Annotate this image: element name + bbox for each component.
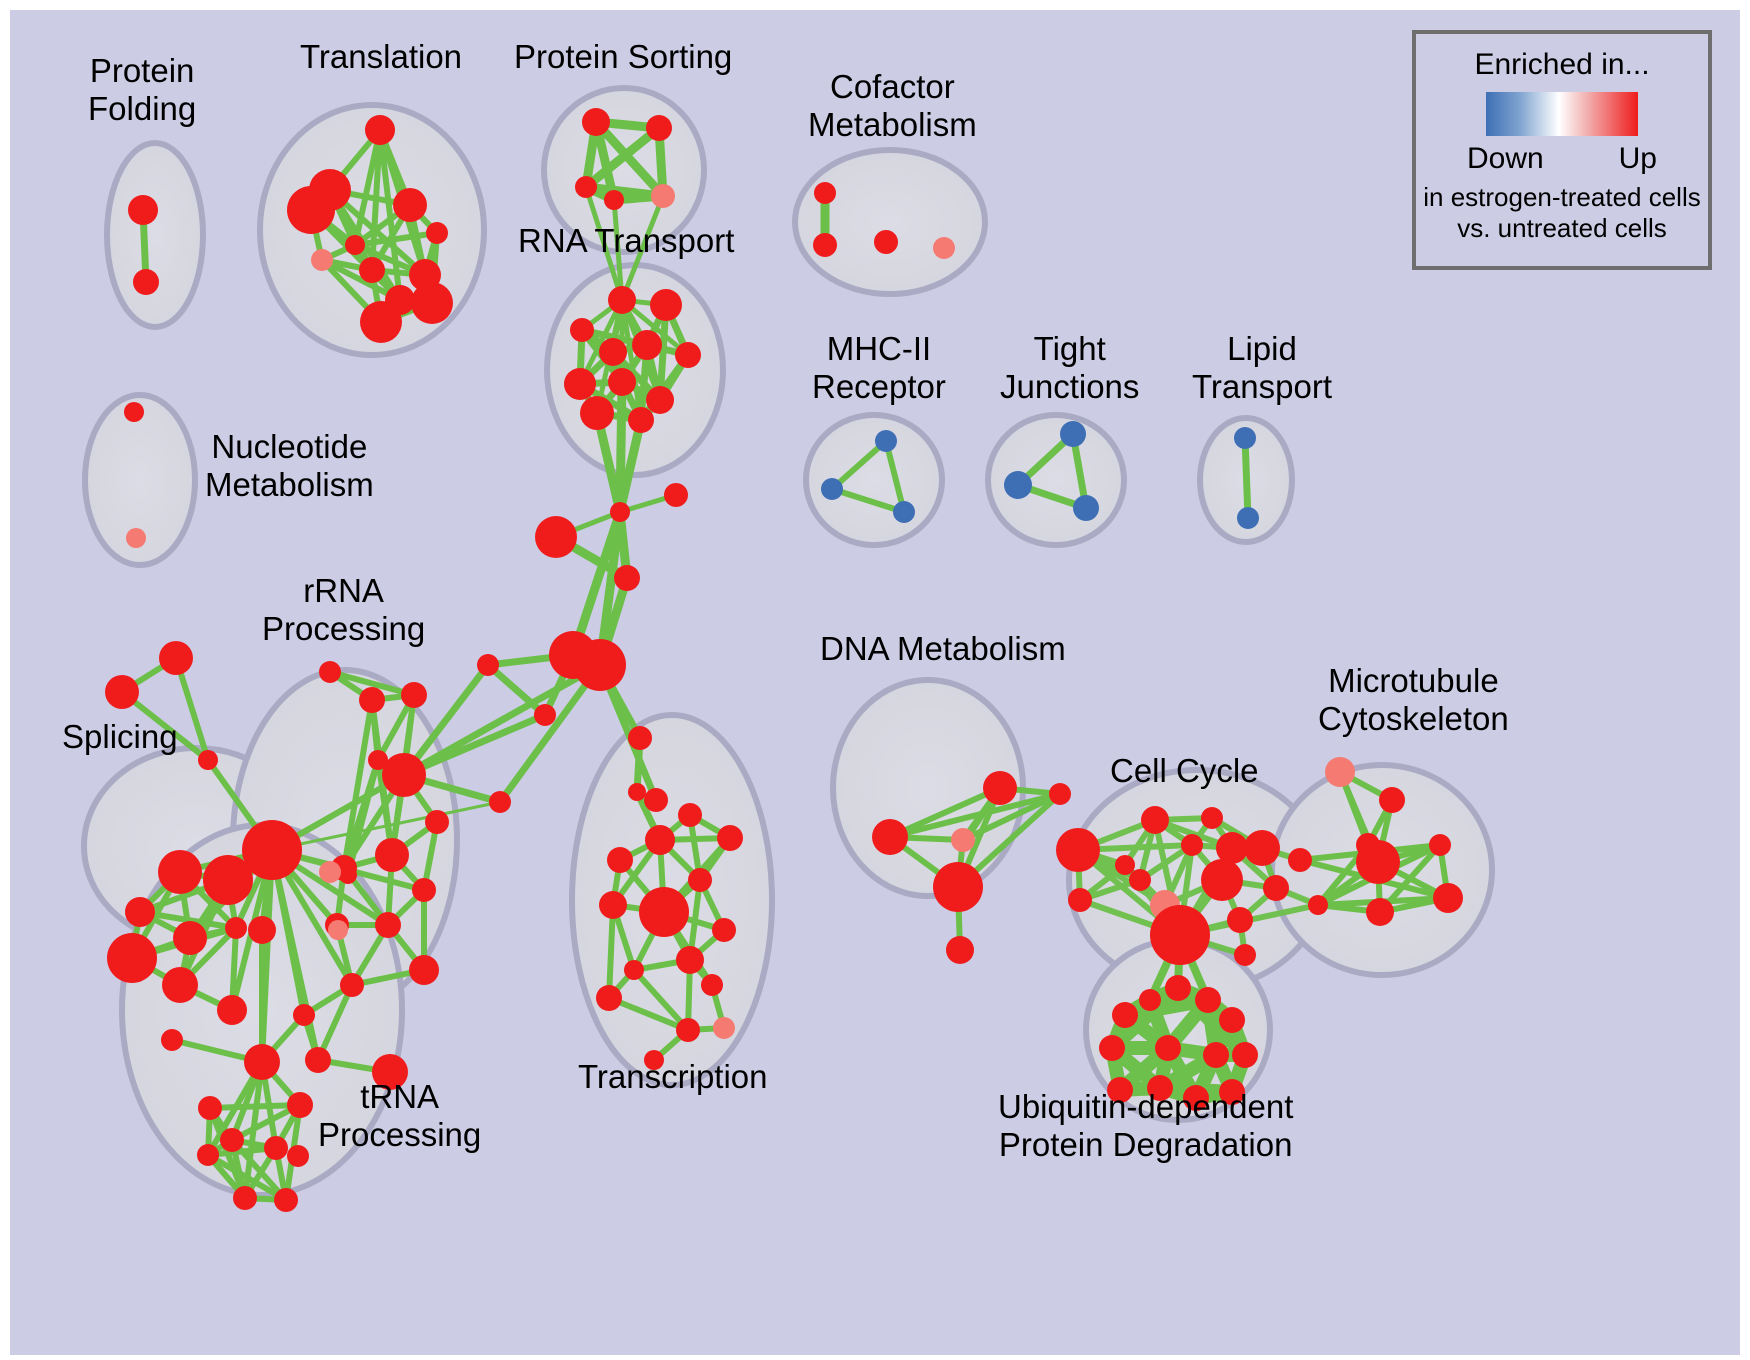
node bbox=[1112, 1002, 1138, 1028]
node bbox=[701, 974, 723, 996]
node bbox=[624, 960, 644, 980]
node bbox=[426, 222, 448, 244]
node bbox=[393, 188, 427, 222]
node bbox=[197, 1144, 219, 1166]
node bbox=[293, 1004, 315, 1026]
node bbox=[1115, 855, 1135, 875]
node bbox=[983, 771, 1017, 805]
node bbox=[874, 230, 898, 254]
halo-protein-folding bbox=[107, 143, 203, 327]
node bbox=[158, 850, 202, 894]
node bbox=[1195, 987, 1221, 1013]
node bbox=[1181, 834, 1203, 856]
node bbox=[1232, 1042, 1258, 1068]
cluster-label-translation: Translation bbox=[300, 38, 462, 76]
cluster-label-cofactor-metabolism: Cofactor Metabolism bbox=[808, 68, 977, 144]
node bbox=[814, 182, 836, 204]
node bbox=[570, 318, 594, 342]
node bbox=[608, 286, 636, 314]
node bbox=[933, 237, 955, 259]
node bbox=[678, 803, 702, 827]
node bbox=[1234, 427, 1256, 449]
node bbox=[1244, 830, 1280, 866]
node bbox=[1004, 471, 1032, 499]
node bbox=[1155, 1035, 1181, 1061]
node bbox=[1356, 840, 1400, 884]
node bbox=[305, 1047, 331, 1073]
legend-title: Enriched in... bbox=[1474, 48, 1649, 82]
node bbox=[717, 825, 743, 851]
node bbox=[946, 936, 974, 964]
node bbox=[651, 184, 675, 208]
node bbox=[933, 862, 983, 912]
node bbox=[125, 897, 155, 927]
node bbox=[287, 1092, 313, 1118]
cluster-label-trna-processing: tRNA Processing bbox=[318, 1078, 481, 1154]
cluster-label-cell-cycle: Cell Cycle bbox=[1110, 752, 1259, 790]
node bbox=[198, 750, 218, 770]
node bbox=[639, 887, 689, 937]
node bbox=[319, 661, 341, 683]
node bbox=[345, 235, 365, 255]
node bbox=[650, 289, 682, 321]
node bbox=[287, 1145, 309, 1167]
cluster-label-transcription: Transcription bbox=[578, 1058, 768, 1096]
node bbox=[264, 1136, 288, 1160]
node bbox=[161, 1029, 183, 1051]
cluster-label-protein-sorting: Protein Sorting bbox=[514, 38, 732, 76]
node bbox=[564, 368, 596, 400]
node bbox=[646, 115, 672, 141]
node bbox=[535, 516, 577, 558]
node bbox=[126, 528, 146, 548]
node bbox=[646, 386, 674, 414]
node bbox=[628, 783, 646, 801]
node bbox=[951, 828, 975, 852]
cluster-label-nucleotide-metabolism: Nucleotide Metabolism bbox=[205, 428, 374, 504]
node bbox=[644, 788, 668, 812]
node bbox=[477, 654, 499, 676]
node bbox=[1201, 807, 1223, 829]
node bbox=[359, 257, 385, 283]
cluster-label-mhc-ii-receptor: MHC-II Receptor bbox=[812, 330, 946, 406]
cluster-label-dna-metabolism: DNA Metabolism bbox=[820, 630, 1066, 668]
node bbox=[162, 967, 198, 1003]
node bbox=[1429, 834, 1451, 856]
node bbox=[676, 1018, 700, 1042]
node bbox=[365, 115, 395, 145]
node bbox=[1234, 944, 1256, 966]
node bbox=[1219, 1007, 1245, 1033]
node bbox=[1150, 905, 1210, 965]
cluster-label-protein-folding: Protein Folding bbox=[88, 52, 196, 128]
node bbox=[220, 1128, 244, 1152]
node bbox=[159, 641, 193, 675]
cluster-label-splicing: Splicing bbox=[62, 718, 178, 756]
node bbox=[1139, 989, 1161, 1011]
node bbox=[360, 301, 402, 343]
node bbox=[1227, 907, 1253, 933]
node bbox=[599, 338, 627, 366]
node bbox=[664, 483, 688, 507]
node bbox=[688, 868, 712, 892]
node bbox=[604, 190, 624, 210]
cluster-label-rrna-processing: rRNA Processing bbox=[262, 572, 425, 648]
legend-color-gradient bbox=[1486, 92, 1638, 136]
node bbox=[233, 1186, 257, 1210]
node bbox=[1073, 495, 1099, 521]
node bbox=[875, 430, 897, 452]
node bbox=[217, 995, 247, 1025]
node bbox=[1288, 848, 1312, 872]
node bbox=[872, 819, 908, 855]
node bbox=[596, 985, 622, 1011]
node bbox=[713, 1017, 735, 1039]
node bbox=[1049, 783, 1071, 805]
node bbox=[382, 753, 426, 797]
node bbox=[107, 933, 157, 983]
node bbox=[607, 847, 633, 873]
node bbox=[580, 396, 614, 430]
node bbox=[575, 176, 597, 198]
cluster-label-tight-junctions: Tight Junctions bbox=[1000, 330, 1139, 406]
node bbox=[574, 639, 626, 691]
node bbox=[1060, 421, 1086, 447]
node bbox=[287, 186, 335, 234]
node bbox=[401, 682, 427, 708]
node bbox=[628, 726, 652, 750]
node bbox=[1237, 507, 1259, 529]
node bbox=[1325, 757, 1355, 787]
node bbox=[1263, 875, 1289, 901]
node bbox=[319, 861, 341, 883]
legend-up-label: Up bbox=[1619, 142, 1657, 176]
node bbox=[534, 704, 556, 726]
node bbox=[244, 1044, 280, 1080]
node bbox=[375, 838, 409, 872]
node bbox=[242, 820, 302, 880]
node bbox=[1056, 828, 1100, 872]
legend-subtitle-line2: vs. untreated cells bbox=[1457, 213, 1667, 244]
node bbox=[411, 282, 453, 324]
node bbox=[1308, 895, 1328, 915]
node bbox=[409, 955, 439, 985]
node bbox=[198, 1096, 222, 1120]
node bbox=[340, 973, 364, 997]
node bbox=[339, 866, 357, 884]
node bbox=[1099, 1035, 1125, 1061]
node bbox=[632, 330, 662, 360]
node bbox=[893, 501, 915, 523]
figure-canvas: Protein Folding Translation Protein Sort… bbox=[0, 0, 1750, 1360]
node bbox=[608, 368, 636, 396]
cluster-label-ubiquitin-protein-degradation: Ubiquitin-dependent Protein Degradation bbox=[998, 1088, 1293, 1164]
node bbox=[813, 233, 837, 257]
legend-box: Enriched in... Down Up in estrogen-treat… bbox=[1412, 30, 1712, 270]
node bbox=[628, 407, 654, 433]
node bbox=[133, 269, 159, 295]
cluster-label-lipid-transport: Lipid Transport bbox=[1192, 330, 1332, 406]
node bbox=[599, 891, 627, 919]
node bbox=[676, 946, 704, 974]
node bbox=[425, 810, 449, 834]
node bbox=[173, 921, 207, 955]
node bbox=[489, 791, 511, 813]
node bbox=[821, 478, 843, 500]
cluster-label-microtubule-cytoskeleton: Microtubule Cytoskeleton bbox=[1318, 662, 1509, 738]
node bbox=[248, 916, 276, 944]
node bbox=[274, 1188, 298, 1212]
node bbox=[375, 912, 401, 938]
node bbox=[675, 342, 701, 368]
node bbox=[614, 565, 640, 591]
node bbox=[1141, 806, 1169, 834]
legend-subtitle-line1: in estrogen-treated cells bbox=[1423, 182, 1700, 213]
node bbox=[128, 195, 158, 225]
node bbox=[610, 502, 630, 522]
node bbox=[645, 825, 675, 855]
node bbox=[412, 878, 436, 902]
node bbox=[311, 249, 333, 271]
node bbox=[225, 917, 247, 939]
node bbox=[1068, 888, 1092, 912]
node bbox=[1129, 869, 1151, 891]
node bbox=[328, 920, 348, 940]
node bbox=[124, 402, 144, 422]
node bbox=[712, 918, 736, 942]
node bbox=[1203, 1042, 1229, 1068]
node bbox=[1201, 859, 1243, 901]
node bbox=[105, 675, 139, 709]
node bbox=[582, 108, 610, 136]
node bbox=[1379, 787, 1405, 813]
node bbox=[1165, 975, 1191, 1001]
node bbox=[359, 687, 385, 713]
node bbox=[1433, 883, 1463, 913]
node bbox=[1366, 898, 1394, 926]
cluster-label-rna-transport: RNA Transport bbox=[518, 222, 734, 260]
legend-down-label: Down bbox=[1467, 142, 1544, 176]
